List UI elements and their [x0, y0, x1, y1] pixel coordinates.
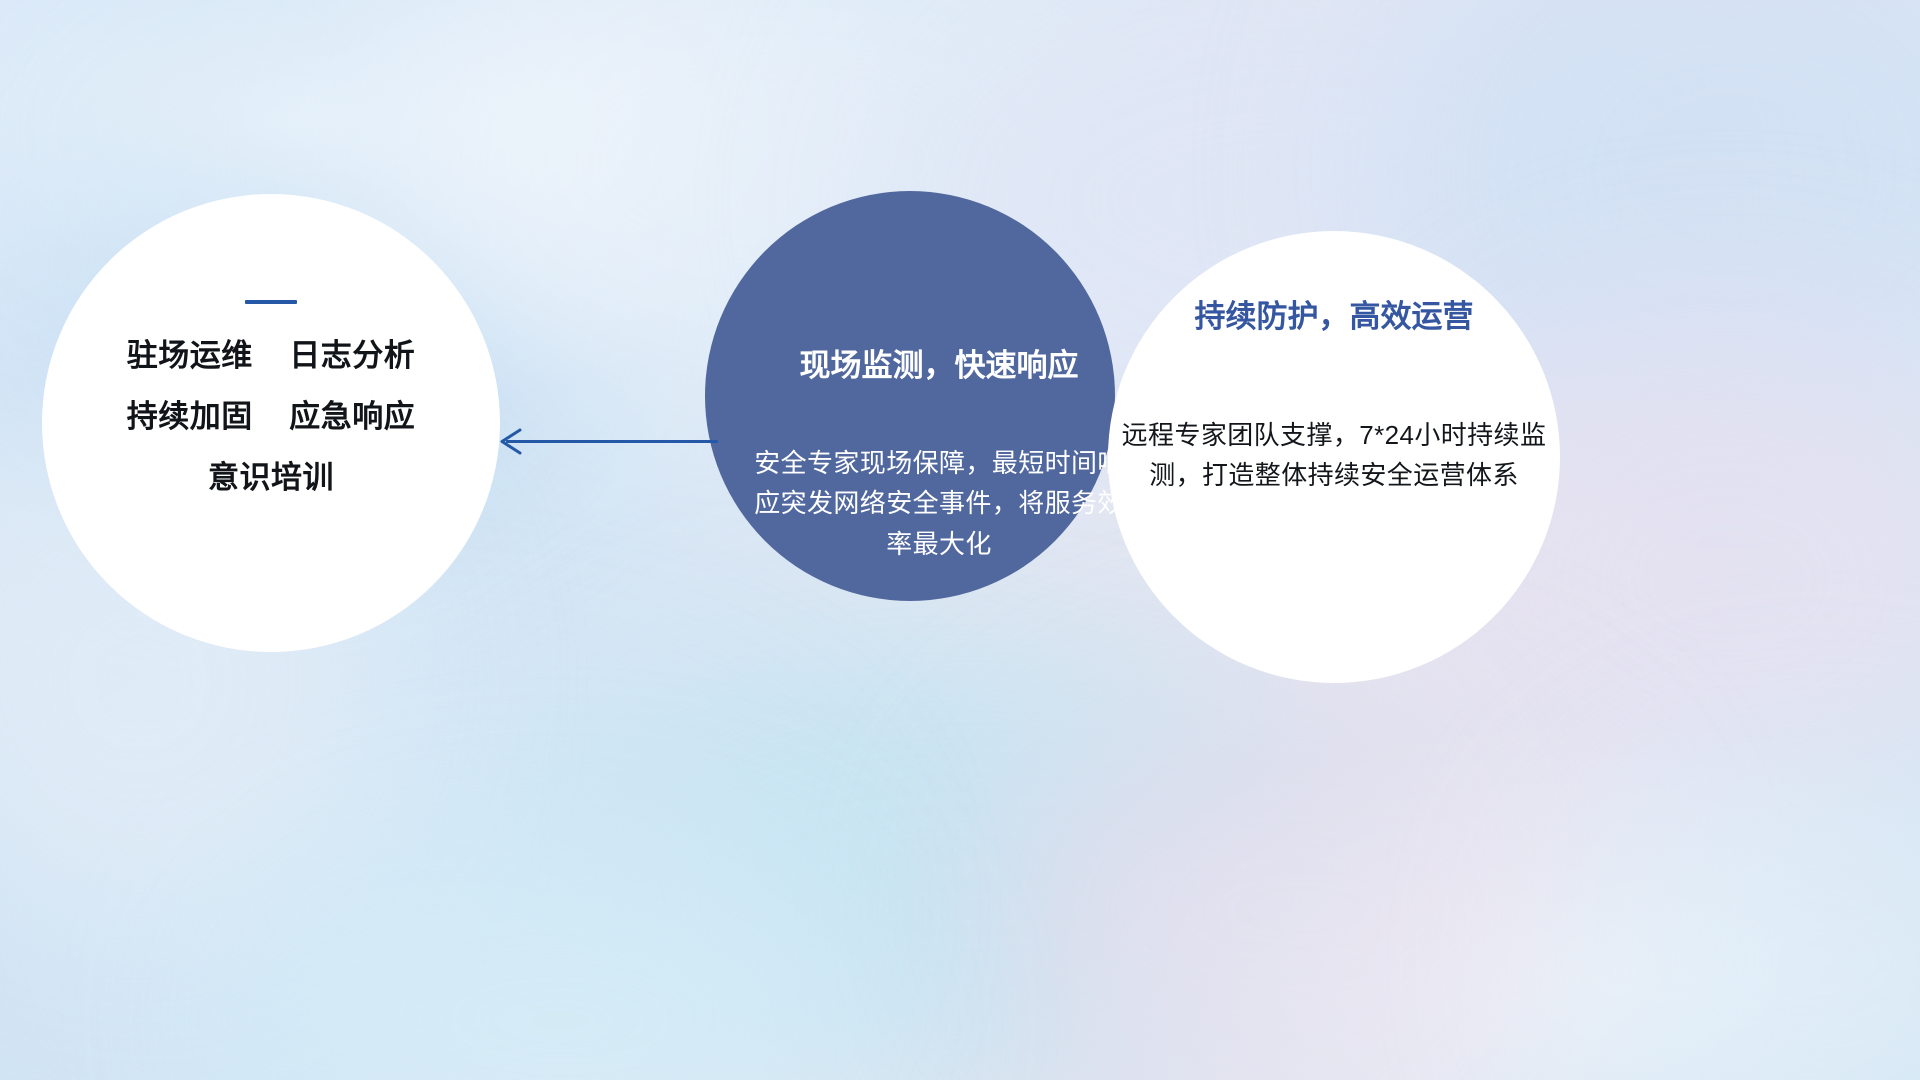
right-circle-body: 远程专家团队支撑，7*24小时持续监测，打造整体持续安全运营体系: [1118, 415, 1550, 496]
left-circle-card: 驻场运维 日志分析 持续加固 应急响应 意识培训: [42, 194, 500, 652]
left-circle-line-3: 意识培训: [70, 462, 472, 493]
mid-circle-body: 安全专家现场保障，最短时间响应突发网络安全事件，将服务效率最大化: [753, 443, 1125, 564]
slide-canvas: 驻场运维 日志分析 持续加固 应急响应 意识培训 现场监测，快速响应 安全专家现…: [0, 0, 1920, 1080]
divider-rule: [245, 300, 297, 304]
left-circle-content: 驻场运维 日志分析 持续加固 应急响应 意识培训: [42, 300, 500, 493]
mid-circle-card: 现场监测，快速响应 安全专家现场保障，最短时间响应突发网络安全事件，将服务效率最…: [705, 191, 1115, 601]
left-circle-line-1: 驻场运维 日志分析: [70, 340, 472, 371]
right-circle-title: 持续防护，高效运营: [1108, 300, 1560, 334]
mid-circle-content: 现场监测，快速响应 安全专家现场保障，最短时间响应突发网络安全事件，将服务效率最…: [753, 349, 1125, 564]
left-circle-line-2: 持续加固 应急响应: [70, 401, 472, 432]
flow-arrow-icon: [480, 412, 720, 472]
mid-circle-title: 现场监测，快速响应: [753, 349, 1125, 383]
